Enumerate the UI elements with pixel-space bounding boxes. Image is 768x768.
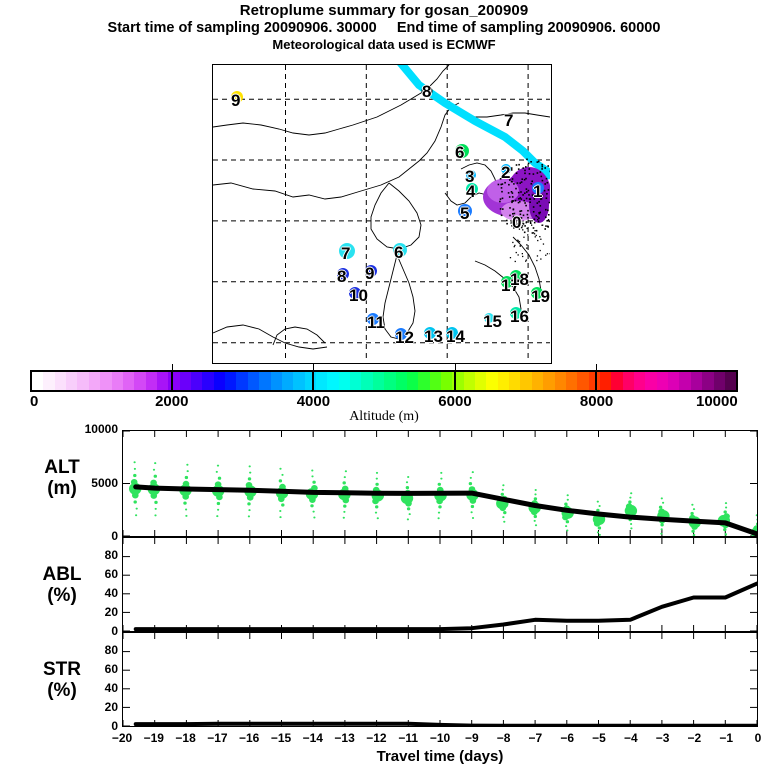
colorbar-tick-label: 4000 [297, 393, 330, 410]
x-axis-title: Travel time (days) [122, 748, 758, 765]
colorbar-swatch [555, 372, 566, 390]
x-tick-label: −6 [551, 731, 583, 745]
alt-chart-panel[interactable] [122, 430, 758, 537]
colorbar-swatch [259, 372, 270, 390]
map-day-label: 9 [365, 265, 374, 282]
colorbar-swatch [32, 372, 43, 390]
colorbar-swatch [418, 372, 429, 390]
map-day-label: 19 [531, 288, 550, 305]
colorbar-swatch [191, 372, 202, 390]
map-day-label: 8 [422, 83, 431, 100]
colorbar-swatch [668, 372, 679, 390]
map-day-label: 10 [349, 287, 368, 304]
colorbar-swatch [350, 372, 361, 390]
colorbar-swatch [66, 372, 77, 390]
map-day-label: 6 [455, 144, 464, 161]
map-day-label: 18 [510, 271, 529, 288]
y-tick-label: 40 [60, 587, 118, 599]
x-tick-label: −11 [392, 731, 424, 745]
colorbar-swatch [134, 372, 145, 390]
alt-chart-graphics [123, 431, 757, 536]
colorbar-swatch [600, 372, 611, 390]
x-tick-label: −19 [138, 731, 170, 745]
colorbar-swatch [384, 372, 395, 390]
page-title: Retroplume summary for gosan_200909 [0, 2, 768, 19]
colorbar-swatch [475, 372, 486, 390]
x-tick-label: 0 [742, 731, 768, 745]
alt-label-line1: ALT [44, 457, 80, 478]
colorbar-swatch [486, 372, 497, 390]
map-day-label: 4 [466, 183, 475, 200]
x-tick-label: −5 [583, 731, 615, 745]
x-tick-label: −17 [201, 731, 233, 745]
colorbar-swatch [407, 372, 418, 390]
colorbar-swatch [157, 372, 168, 390]
colorbar-swatch [714, 372, 725, 390]
x-tick-label: −16 [233, 731, 265, 745]
str-chart-panel[interactable] [122, 632, 758, 727]
map-day-label: 16 [510, 308, 529, 325]
x-tick-label: −20 [106, 731, 138, 745]
colorbar-divider [312, 370, 314, 392]
map-day-label: 6 [394, 244, 403, 261]
colorbar-swatch [248, 372, 259, 390]
colorbar-swatch [702, 372, 713, 390]
x-tick-label: −2 [678, 731, 710, 745]
map-day-label: 5 [460, 205, 469, 222]
map-day-label: 9 [231, 92, 240, 109]
colorbar-tick-label: 2000 [155, 393, 188, 410]
x-tick-label: −8 [488, 731, 520, 745]
y-tick-label: 10000 [60, 423, 118, 435]
colorbar-divider [595, 370, 597, 392]
map-day-label: 12 [395, 329, 414, 346]
x-tick-label: −10 [424, 731, 456, 745]
colorbar-divider [171, 370, 173, 392]
map-day-label: 13 [424, 328, 443, 345]
colorbar-tick [596, 364, 597, 370]
y-tick-label: 40 [60, 682, 118, 694]
map-day-label: 1 [533, 183, 542, 200]
colorbar-swatch [373, 372, 384, 390]
colorbar-swatch [498, 372, 509, 390]
colorbar-divider [454, 370, 456, 392]
colorbar-swatch [611, 372, 622, 390]
colorbar-tick [313, 364, 314, 370]
x-tick-label: −14 [297, 731, 329, 745]
colorbar-swatch [327, 372, 338, 390]
map-day-label: 7 [504, 112, 513, 129]
str-chart-graphics [123, 633, 757, 726]
colorbar-swatch [202, 372, 213, 390]
colorbar-swatch [225, 372, 236, 390]
x-tick-label: −1 [710, 731, 742, 745]
colorbar-swatch [100, 372, 111, 390]
x-tick-label: −13 [329, 731, 361, 745]
y-tick-label: 20 [60, 701, 118, 713]
map-day-label: 2 [501, 164, 510, 181]
colorbar-swatch [396, 372, 407, 390]
colorbar-swatch [520, 372, 531, 390]
colorbar-swatch [509, 372, 520, 390]
colorbar-swatch [55, 372, 66, 390]
colorbar-swatch [123, 372, 134, 390]
colorbar-swatch [43, 372, 54, 390]
colorbar-swatch [645, 372, 656, 390]
met-data-line: Meteorological data used is ECMWF [0, 37, 768, 52]
colorbar-swatch [339, 372, 350, 390]
colorbar-swatch [180, 372, 191, 390]
colorbar-tick [172, 364, 173, 370]
retroplume-map[interactable]: 9876324150768910111213141516171819 [212, 64, 552, 364]
map-day-label: 14 [446, 328, 465, 345]
y-tick-label: 80 [60, 644, 118, 656]
colorbar-tick-label: 10000 [696, 393, 738, 410]
colorbar-swatch [146, 372, 157, 390]
colorbar-swatch [361, 372, 372, 390]
colorbar-swatch [316, 372, 327, 390]
colorbar-swatch [214, 372, 225, 390]
x-tick-label: −3 [647, 731, 679, 745]
colorbar-swatch [623, 372, 634, 390]
map-day-label: 8 [337, 268, 346, 285]
colorbar-swatch [430, 372, 441, 390]
abl-chart-graphics [123, 538, 757, 631]
colorbar-tick-label: 8000 [580, 393, 613, 410]
colorbar-swatch [577, 372, 588, 390]
colorbar-swatch [634, 372, 645, 390]
map-day-label: 0 [512, 214, 521, 231]
y-tick-label: 0 [60, 625, 118, 637]
colorbar-swatch [112, 372, 123, 390]
x-tick-label: −12 [360, 731, 392, 745]
colorbar-swatch [725, 372, 736, 390]
colorbar-swatch [532, 372, 543, 390]
altitude-colorbar [30, 370, 738, 392]
x-tick-label: −18 [170, 731, 202, 745]
y-tick-label: 60 [60, 663, 118, 675]
colorbar-tick-label: 6000 [438, 393, 471, 410]
colorbar-swatch [691, 372, 702, 390]
x-tick-label: −9 [456, 731, 488, 745]
x-tick-label: −4 [615, 731, 647, 745]
colorbar-swatch [271, 372, 282, 390]
map-day-label: 11 [367, 314, 385, 331]
y-tick-label: 5000 [60, 477, 118, 489]
x-tick-label: −7 [519, 731, 551, 745]
colorbar-swatch [657, 372, 668, 390]
colorbar-swatch [679, 372, 690, 390]
colorbar-swatch [566, 372, 577, 390]
map-day-label: 15 [483, 313, 502, 330]
colorbar-swatch [282, 372, 293, 390]
colorbar-swatch [589, 372, 600, 390]
title-block: Retroplume summary for gosan_200909 Star… [0, 2, 768, 52]
map-day-label: 7 [341, 245, 350, 262]
x-tick-label: −15 [265, 731, 297, 745]
colorbar-swatch [464, 372, 475, 390]
colorbar-swatch [89, 372, 100, 390]
sampling-time-line: Start time of sampling 20090906. 30000 E… [0, 20, 768, 36]
colorbar-swatch [77, 372, 88, 390]
abl-chart-panel[interactable] [122, 537, 758, 632]
colorbar-swatch [441, 372, 452, 390]
colorbar-tick-label: 0 [30, 393, 38, 410]
y-tick-label: 0 [60, 530, 118, 542]
colorbar-swatch [236, 372, 247, 390]
y-tick-label: 20 [60, 606, 118, 618]
colorbar-swatch [305, 372, 316, 390]
colorbar-swatch [543, 372, 554, 390]
colorbar-tick [455, 364, 456, 370]
y-tick-label: 80 [60, 549, 118, 561]
y-tick-label: 60 [60, 568, 118, 580]
colorbar-swatch [293, 372, 304, 390]
